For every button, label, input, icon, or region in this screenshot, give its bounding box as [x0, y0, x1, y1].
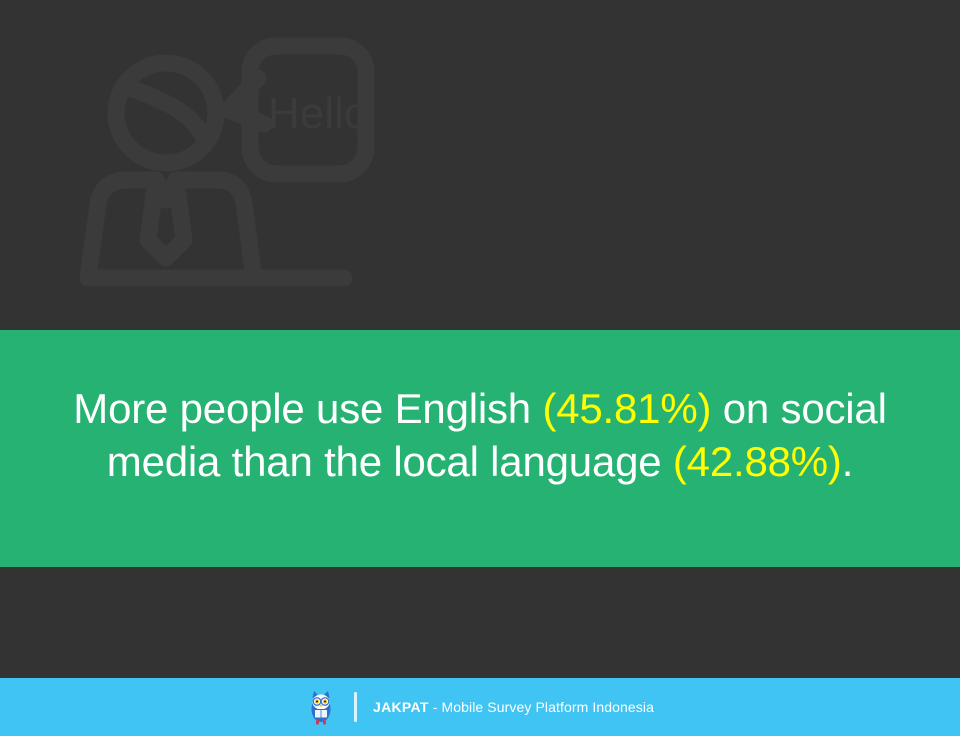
statement-band: More people use English (45.81%) on soci… — [0, 330, 960, 567]
owl-logo-svg — [306, 687, 336, 727]
statement-part-3: . — [842, 438, 853, 485]
owl-foot-right — [323, 720, 326, 725]
speech-bubble-tail-icon — [228, 78, 264, 124]
owl-pupil-right — [324, 701, 326, 703]
brand-name: JAKPAT — [373, 699, 429, 715]
owl-pupil-left — [316, 701, 318, 703]
speech-bubble-text: Hello — [268, 89, 368, 138]
slide-canvas: Hello More people use English (45.81%) o… — [0, 0, 960, 736]
statement-part-1: More people use English — [73, 385, 542, 432]
highlight-local-percent: (42.88%) — [673, 438, 842, 485]
spacer-section — [0, 567, 960, 678]
head-icon — [116, 63, 216, 163]
footer-content: JAKPAT - Mobile Survey Platform Indonesi… — [306, 687, 654, 727]
hair-swoosh-icon — [125, 86, 203, 136]
footer-bar: JAKPAT - Mobile Survey Platform Indonesi… — [0, 678, 960, 736]
person-speech-bubble-svg: Hello — [72, 28, 392, 300]
highlight-english-percent: (45.81%) — [542, 385, 711, 432]
person-speech-bubble-icon: Hello — [72, 28, 392, 300]
hero-section: Hello — [0, 0, 960, 330]
footer-divider — [354, 692, 357, 722]
jakpat-owl-logo — [306, 687, 336, 727]
necktie-icon — [148, 180, 184, 258]
owl-foot-left — [316, 720, 319, 725]
brand-tagline: Mobile Survey Platform Indonesia — [441, 699, 654, 715]
footer-brand-text: JAKPAT - Mobile Survey Platform Indonesi… — [373, 700, 654, 714]
statement-text: More people use English (45.81%) on soci… — [40, 383, 920, 513]
brand-separator: - — [429, 699, 442, 715]
